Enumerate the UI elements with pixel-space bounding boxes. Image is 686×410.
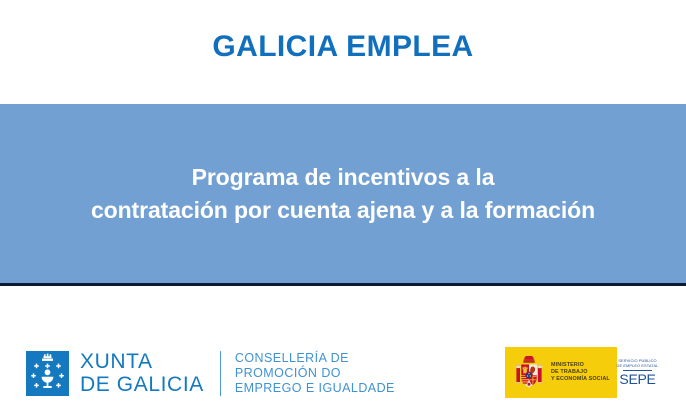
banner-line-2: contratación por cuenta ajena y a la for… [8,194,678,227]
page-title: GALICIA EMPLEA [0,28,686,66]
ministerio-name: MINISTERIO DE TRABAJO Y ECONOMÍA SOCIAL [551,362,610,384]
xunta-de-galicia-logo: XUNTA DE GALICIA CONSELLERÍA DE PROMOCIÓ… [26,350,395,396]
sepe-acronym: SEPE [619,372,655,387]
spain-coat-of-arms-icon [514,355,544,391]
conselleria-line-1: CONSELLERÍA DE [235,351,395,366]
ministerio-de-trabajo-logo: MINISTERIO DE TRABAJO Y ECONOMÍA SOCIAL [505,347,617,398]
ministerio-line-2: DE TRABAJO [551,369,610,376]
xunta-wordmark-line-2: DE GALICIA [80,373,204,396]
sepe-logo: SERVICIO PÚBLICO DE EMPLEO ESTATAL SEPE [617,347,658,398]
galicia-coat-of-arms-icon [26,351,69,396]
government-logos: MINISTERIO DE TRABAJO Y ECONOMÍA SOCIAL … [505,347,658,398]
banner-text-block: Programa de incentivos a la contratación… [0,161,686,227]
ministerio-line-1: MINISTERIO [551,362,610,369]
sepe-name-line-2: DE EMPLEO ESTATAL [617,363,659,368]
conselleria-line-2: PROMOCIÓN DO [235,366,395,381]
conselleria-name: CONSELLERÍA DE PROMOCIÓN DO EMPREGO E IG… [235,351,395,396]
xunta-wordmark: XUNTA DE GALICIA [80,350,204,396]
conselleria-line-3: EMPREGO E IGUALDADE [235,381,395,396]
sepe-full-name: SERVICIO PÚBLICO DE EMPLEO ESTATAL [617,358,659,368]
sepe-name-line-1: SERVICIO PÚBLICO [617,358,659,363]
program-banner: Programa de incentivos a la contratación… [0,104,686,286]
banner-line-1: Programa de incentivos a la [8,161,678,194]
ministerio-line-3: Y ECONOMÍA SOCIAL [551,376,610,383]
logo-divider [220,351,221,396]
xunta-wordmark-line-1: XUNTA [80,350,204,373]
